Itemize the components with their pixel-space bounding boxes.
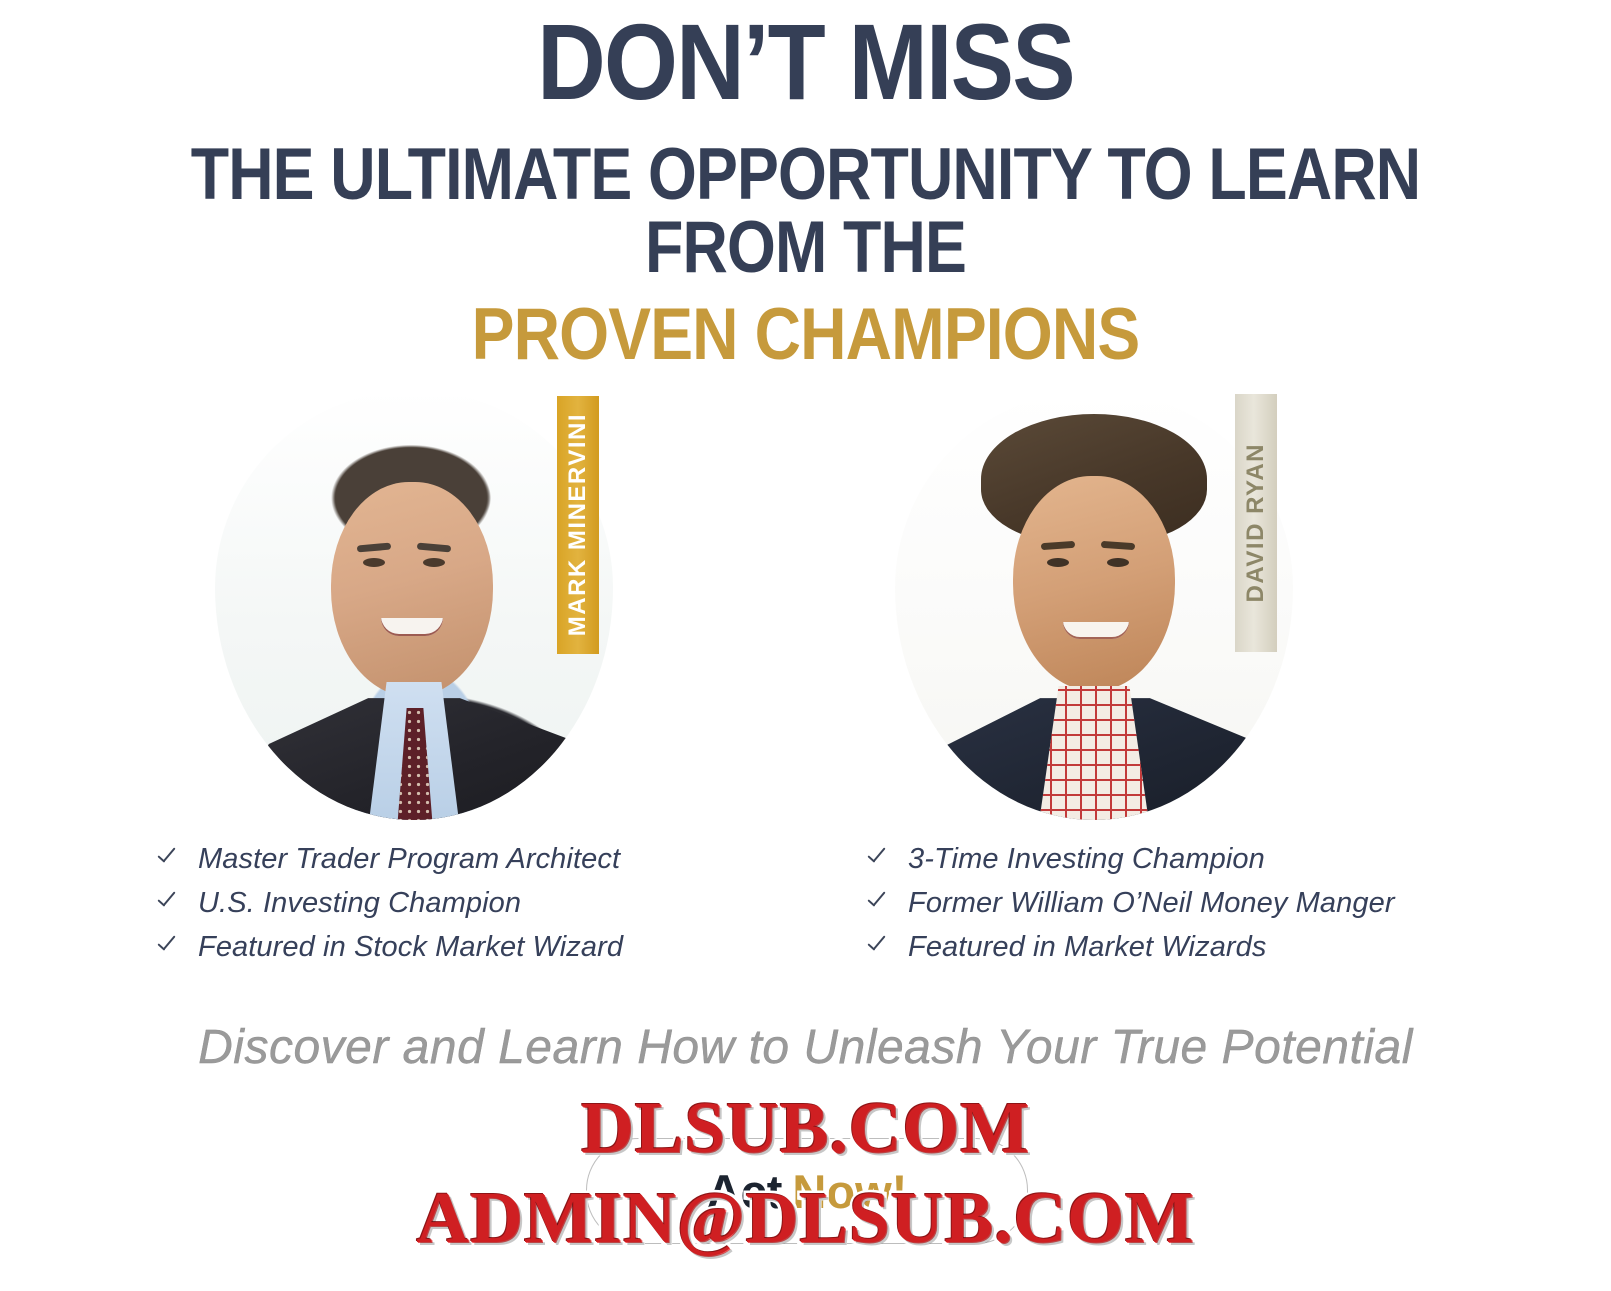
credential-label: 3-Time Investing Champion (908, 843, 1265, 876)
eye-left (1047, 558, 1069, 567)
smile-shape (1063, 622, 1129, 639)
eye-left (363, 558, 385, 567)
credentials-david-ryan: 3-Time Investing Champion Former William… (865, 842, 1395, 974)
credentials-block: Master Trader Program Architect U.S. Inv… (0, 842, 1611, 972)
watermark-site-text: DLSUB.COM (581, 1087, 1030, 1168)
list-item: Featured in Stock Market Wizard (155, 930, 623, 974)
headline-line-2: THE ULTIMATE OPPORTUNITY TO LEARN FROM T… (113, 138, 1498, 284)
nameplate-label: DAVID RYAN (1242, 443, 1270, 602)
speaker-card-mark-minervini: MARK MINERVINI (160, 372, 630, 827)
promo-banner: DON’T MISS THE ULTIMATE OPPORTUNITY TO L… (0, 0, 1611, 1291)
credential-label: Former William O’Neil Money Manger (908, 887, 1395, 920)
list-item: 3-Time Investing Champion (865, 842, 1395, 886)
nameplate-mark-minervini: MARK MINERVINI (557, 396, 599, 654)
speaker-card-david-ryan: DAVID RYAN (840, 372, 1310, 827)
headline-line-3: PROVEN CHAMPIONS (97, 298, 1515, 371)
check-icon (865, 890, 891, 916)
check-icon (155, 846, 181, 872)
face-shape (331, 482, 493, 697)
credential-label: Featured in Market Wizards (908, 931, 1267, 964)
credentials-mark-minervini: Master Trader Program Architect U.S. Inv… (155, 842, 623, 974)
nameplate-david-ryan: DAVID RYAN (1235, 394, 1277, 652)
speaker-photo-david-ryan (895, 390, 1293, 820)
headline-line-1: DON’T MISS (97, 8, 1515, 116)
speaker-portraits: MARK MINERVINI DAVID RYAN (0, 372, 1611, 832)
speaker-photo-mark-minervini (215, 390, 613, 820)
credential-label: Featured in Stock Market Wizard (198, 931, 623, 964)
check-icon (155, 890, 181, 916)
portrait-image-mark (215, 390, 613, 820)
eye-right (423, 558, 445, 567)
list-item: Featured in Market Wizards (865, 930, 1395, 974)
list-item: Former William O’Neil Money Manger (865, 886, 1395, 930)
check-icon (865, 934, 891, 960)
smile-shape (381, 618, 443, 636)
headline-block: DON’T MISS THE ULTIMATE OPPORTUNITY TO L… (0, 0, 1611, 371)
nameplate-label: MARK MINERVINI (564, 413, 592, 636)
credential-label: U.S. Investing Champion (198, 887, 521, 920)
tagline: Discover and Learn How to Unleash Your T… (0, 1020, 1611, 1075)
credential-label: Master Trader Program Architect (198, 843, 620, 876)
check-icon (865, 846, 891, 872)
list-item: Master Trader Program Architect (155, 842, 623, 886)
watermark-email-text: ADMIN@DLSUB.COM (416, 1177, 1194, 1258)
watermark-email: ADMIN@DLSUB.COM (0, 1176, 1611, 1260)
check-icon (155, 934, 181, 960)
eye-right (1107, 558, 1129, 567)
watermark-site: DLSUB.COM (0, 1086, 1611, 1170)
list-item: U.S. Investing Champion (155, 886, 623, 930)
portrait-image-david (895, 390, 1293, 820)
face-shape (1013, 476, 1175, 691)
